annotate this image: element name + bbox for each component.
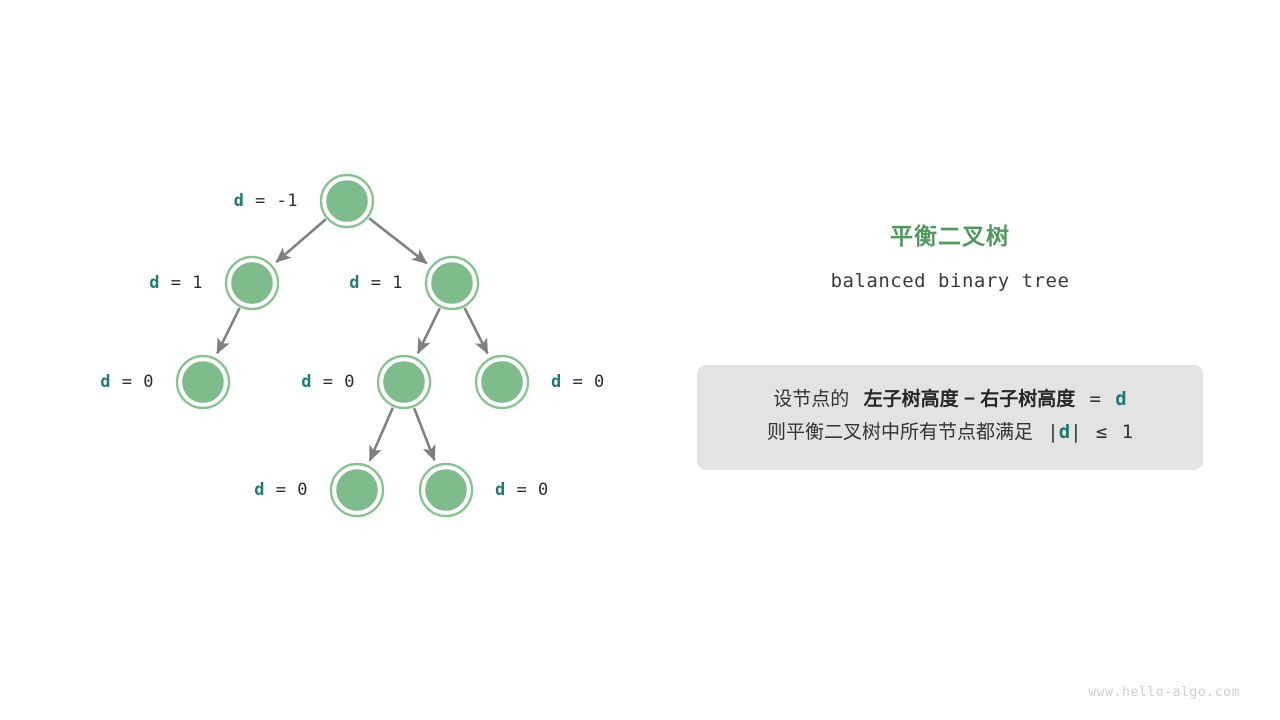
tree-node-circle xyxy=(424,468,468,512)
tree-node-circle xyxy=(480,360,524,404)
definition-line-1: 设节点的 左子树高度 − 右子树高度 = d xyxy=(697,383,1203,416)
tree-edge xyxy=(418,308,440,353)
definition-line2-prefix: 则平衡二叉树中所有节点都满足 xyxy=(767,422,1033,443)
tree-node-circle xyxy=(325,179,369,223)
tree-edge xyxy=(369,218,427,263)
tree-node xyxy=(476,356,528,408)
tree-edge xyxy=(217,308,239,353)
node-label-value: = 0 xyxy=(111,372,154,392)
tree-node xyxy=(226,257,278,309)
binary-tree-graphic xyxy=(0,0,660,620)
node-label-variable: d xyxy=(149,273,160,293)
node-balance-label: d = 0 xyxy=(551,372,605,392)
tree-node-circle xyxy=(230,261,274,305)
definition-line1-prefix: 设节点的 xyxy=(773,389,849,410)
node-label-variable: d xyxy=(495,480,506,500)
info-panel: 平衡二叉树 balanced binary tree xyxy=(697,225,1203,292)
watermark: www.hello-algo.com xyxy=(1088,685,1240,700)
tree-node-layer xyxy=(177,175,528,516)
node-label-value: = 0 xyxy=(312,372,355,392)
abs-bar-open: | xyxy=(1047,421,1058,443)
node-label-variable: d xyxy=(234,191,245,211)
node-label-variable: d xyxy=(100,372,111,392)
definition-line1-right-height: 右子树高度 xyxy=(980,389,1075,410)
abs-bar-close: | xyxy=(1070,421,1081,443)
node-balance-label: d = 0 xyxy=(495,480,549,500)
tree-node xyxy=(321,175,373,227)
variable-d-line1: d xyxy=(1115,388,1126,410)
minus-sign: − xyxy=(964,389,975,410)
tree-node-circle xyxy=(181,360,225,404)
variable-d-line2: d xyxy=(1059,421,1070,443)
node-label-variable: d xyxy=(551,372,562,392)
node-balance-label: d = 0 xyxy=(100,372,154,392)
tree-edge xyxy=(465,308,488,353)
tree-node xyxy=(378,356,430,408)
node-label-value: = 1 xyxy=(360,273,403,293)
definition-line1-left-height: 左子树高度 xyxy=(864,389,959,410)
definition-box: 设节点的 左子树高度 − 右子树高度 = d 则平衡二叉树中所有节点都满足 |d… xyxy=(697,365,1203,470)
tree-node xyxy=(420,464,472,516)
node-label-variable: d xyxy=(254,480,265,500)
node-balance-label: d = -1 xyxy=(234,191,298,211)
definition-line-2: 则平衡二叉树中所有节点都满足 |d| ≤ 1 xyxy=(697,416,1203,449)
diagram-stage: d = -1d = 1d = 1d = 0d = 0d = 0d = 0d = … xyxy=(0,0,1280,720)
node-label-value: = 0 xyxy=(562,372,605,392)
node-balance-label: d = 1 xyxy=(349,273,403,293)
node-balance-label: d = 0 xyxy=(301,372,355,392)
tree-edge xyxy=(414,408,434,460)
tree-node-circle xyxy=(335,468,379,512)
definition-line2-value: 1 xyxy=(1122,421,1133,443)
tree-node xyxy=(177,356,229,408)
node-label-value: = -1 xyxy=(244,191,298,211)
tree-edge-layer xyxy=(217,218,487,460)
node-balance-label: d = 1 xyxy=(149,273,203,293)
node-label-variable: d xyxy=(349,273,360,293)
page-subtitle: balanced binary tree xyxy=(697,270,1203,292)
tree-node xyxy=(331,464,383,516)
node-label-value: = 0 xyxy=(506,480,549,500)
tree-node-circle xyxy=(382,360,426,404)
tree-node xyxy=(426,257,478,309)
node-label-value: = 0 xyxy=(265,480,308,500)
node-label-variable: d xyxy=(301,372,312,392)
tree-node-circle xyxy=(430,261,474,305)
node-label-value: = 1 xyxy=(160,273,203,293)
equals-sign: = xyxy=(1090,388,1101,410)
tree-edge xyxy=(370,408,393,461)
page-title: 平衡二叉树 xyxy=(697,225,1203,248)
node-balance-label: d = 0 xyxy=(254,480,308,500)
tree-edge xyxy=(276,219,326,262)
less-equal-sign: ≤ xyxy=(1096,421,1107,443)
